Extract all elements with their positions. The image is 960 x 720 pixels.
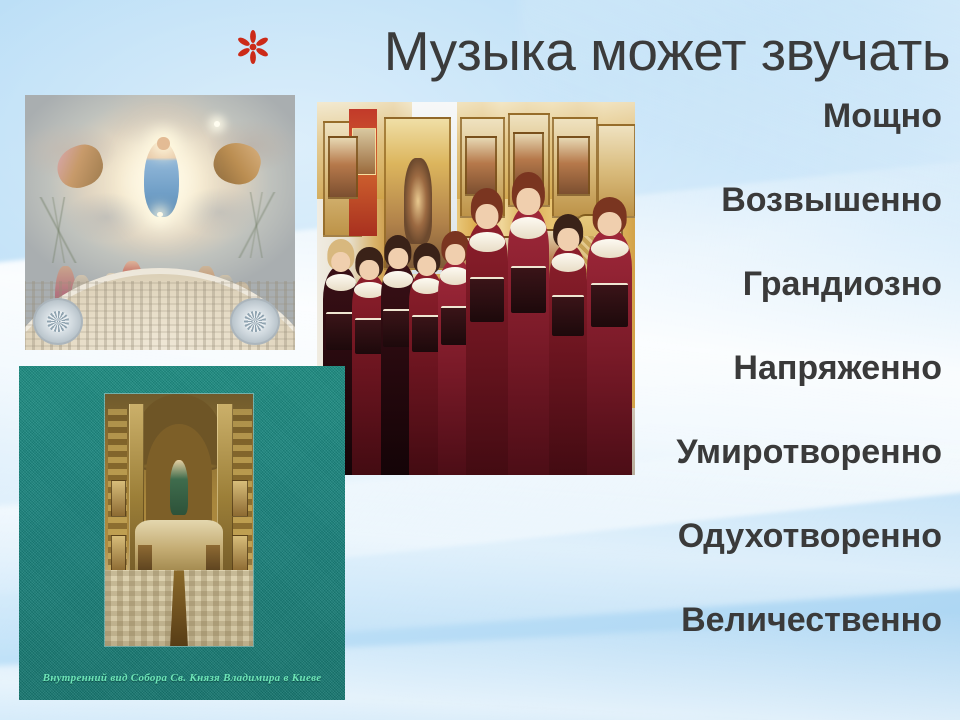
list-item: Одухотворенно [560, 516, 942, 556]
singer-collar [326, 274, 356, 291]
choir-singer [508, 206, 549, 475]
singer-face [331, 252, 351, 273]
choir-singer [549, 244, 587, 475]
wall-icon [328, 136, 357, 200]
slide: Музыка может звучать Мощно Возвышенно Гр… [0, 0, 960, 720]
singer-face [558, 228, 579, 251]
music-folder [412, 315, 441, 352]
cathedral-stall [138, 545, 153, 570]
singer-collar [552, 253, 585, 272]
music-folder [470, 277, 505, 322]
cathedral-caption: Внутренний вид Собора Св. Князя Владимир… [19, 672, 345, 684]
page-title: Музыка может звучать [270, 18, 950, 84]
cathedral-interior-image: Внутренний вид Собора Св. Князя Владимир… [19, 366, 345, 700]
singer-face [417, 256, 437, 277]
music-folder [355, 318, 384, 354]
fresco-rosette-left [33, 298, 83, 345]
singer-collar [511, 217, 547, 238]
fresco-christ-figure [144, 141, 179, 218]
singer-face [360, 260, 380, 280]
music-folder [591, 283, 628, 327]
cathedral-interior-photo [105, 394, 253, 646]
fresco-rosette-right [230, 298, 280, 345]
list-item: Величественно [560, 600, 942, 640]
singer-face [446, 244, 466, 266]
asterisk-icon [236, 30, 270, 64]
singer-face [388, 248, 408, 269]
cathedral-stall [206, 545, 221, 570]
cathedral-virgin-fresco [170, 460, 188, 515]
singer-collar [383, 271, 413, 288]
fresco-christ-head [157, 137, 169, 150]
cathedral-wall-icon [232, 535, 247, 572]
music-folder [552, 295, 584, 336]
church-choir-image [317, 102, 635, 475]
singer-face [476, 204, 499, 229]
slide-title-row: Музыка может звучать [236, 18, 950, 90]
singer-face [597, 212, 622, 237]
wall-icon [465, 136, 498, 196]
wall-icon [557, 136, 590, 196]
fresco-star [214, 121, 220, 127]
singer-collar [354, 282, 384, 298]
singer-face [517, 188, 540, 215]
church-dome-fresco-image [25, 95, 295, 350]
cathedral-wall-icon [232, 480, 247, 517]
music-folder [511, 266, 546, 314]
choir-singer [466, 221, 507, 475]
cathedral-wall-icon [111, 480, 126, 517]
singer-collar [590, 239, 628, 259]
singer-collar [469, 232, 505, 252]
cathedral-wall-icon [111, 535, 126, 572]
choir-singer [587, 229, 632, 475]
